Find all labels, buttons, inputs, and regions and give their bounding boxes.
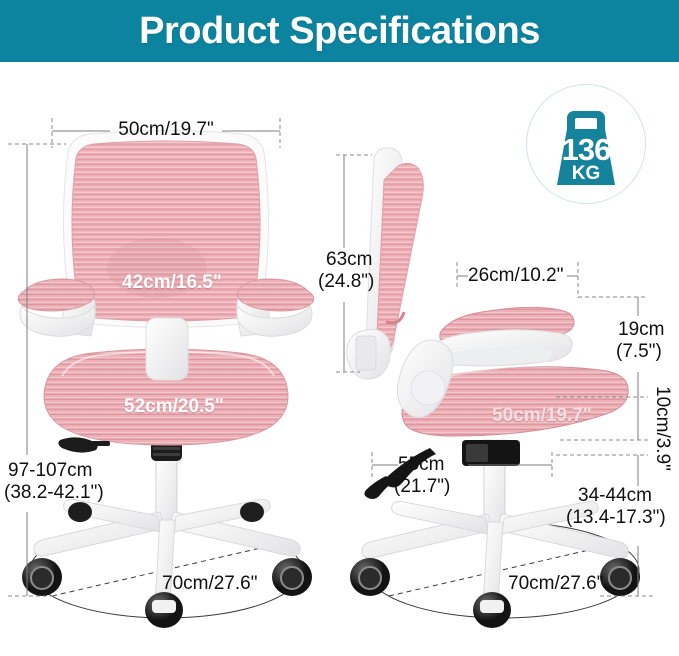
dim-armrest-height-line1: 19cm [618, 320, 664, 340]
dim-overall-depth-line1: 55cm [398, 455, 444, 475]
dim-seat-height-line1: 34-44cm [578, 486, 652, 506]
side-view-chair [0, 0, 679, 656]
dim-seat-depth: 50cm/19.7" [492, 405, 592, 427]
product-specifications-page: Product Specifications 136 KG [0, 0, 679, 656]
dim-seat-height-line2: (13.4-17.3") [566, 508, 666, 528]
dim-side-base-diameter: 70cm/27.6" [508, 574, 603, 594]
dim-backrest-height-line2: (24.8") [318, 272, 374, 292]
dim-backrest-height-line1: 63cm [326, 250, 372, 270]
dim-armrest-height-line2: (7.5") [616, 342, 662, 362]
dim-overall-depth-line2: (21.7") [394, 477, 450, 497]
dim-seat-thickness: 10cm/3.9" [652, 386, 672, 471]
dim-armrest-length: 26cm/10.2" [468, 266, 563, 286]
